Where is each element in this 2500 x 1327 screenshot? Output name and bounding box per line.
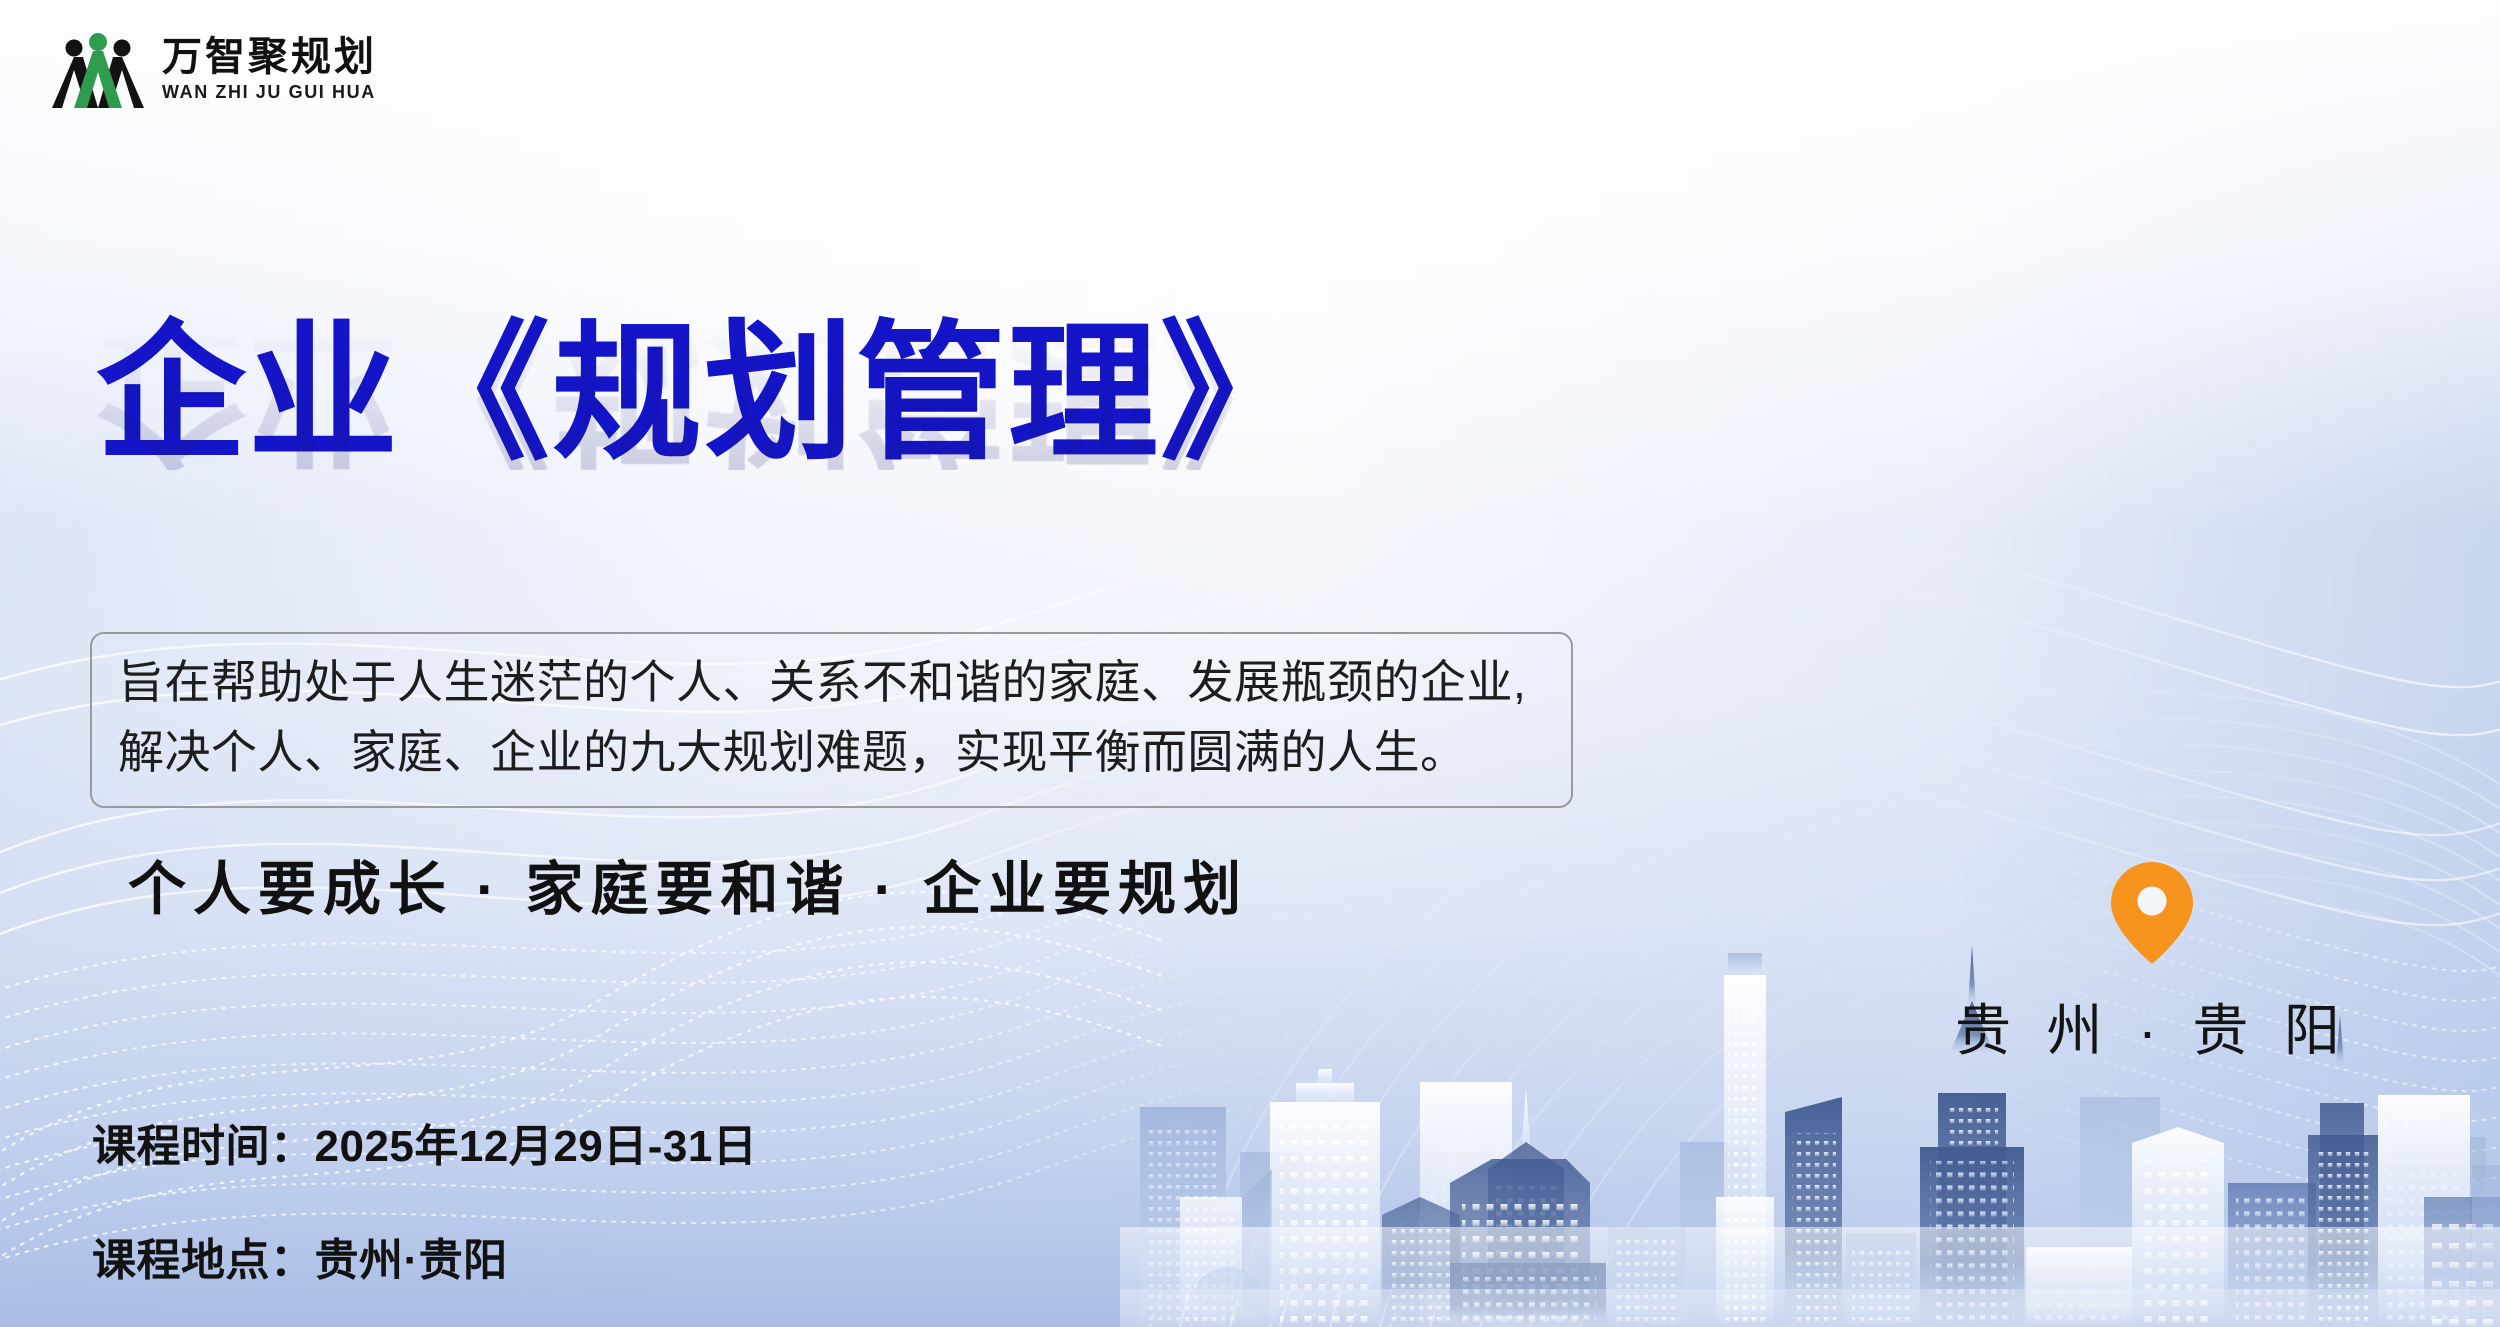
location-label: 贵 州 · 贵 阳: [1955, 986, 2350, 1067]
brand-name-cn: 万智聚规划: [162, 35, 377, 80]
location-badge: 贵 州 · 贵 阳: [1955, 860, 2350, 1067]
three-people-logo-icon: [52, 30, 144, 108]
tagline: 个人要成长 · 家庭要和谐 · 企业要规划: [128, 842, 1248, 926]
description-line-2: 解决个人、家庭、企业的九大规划难题，实现平衡而圆满的人生。: [118, 718, 1545, 788]
course-place: 课程地点：贵州·贵阳: [92, 1224, 757, 1288]
course-info: 课程时间：2025年12月29日-31日 课程地点：贵州·贵阳: [92, 1110, 757, 1288]
course-time: 课程时间：2025年12月29日-31日: [92, 1110, 757, 1174]
brand-name-en: WAN ZHI JU GUI HUA: [162, 82, 377, 103]
map-pin-icon: [2109, 860, 2195, 964]
poster-canvas: 万智聚规划 WAN ZHI JU GUI HUA 企业《规划管理》 企业《规划管…: [0, 0, 2500, 1327]
headline-block: 企业《规划管理》 企业《规划管理》: [96, 318, 1656, 620]
brand-logo[interactable]: 万智聚规划 WAN ZHI JU GUI HUA: [52, 30, 377, 108]
page-title-reflection: 企业《规划管理》: [96, 320, 1656, 470]
description-box: 旨在帮助处于人生迷茫的个人、关系不和谐的家庭、发展瓶颈的企业, 解决个人、家庭、…: [90, 632, 1573, 808]
description-line-1: 旨在帮助处于人生迷茫的个人、关系不和谐的家庭、发展瓶颈的企业,: [118, 648, 1545, 718]
